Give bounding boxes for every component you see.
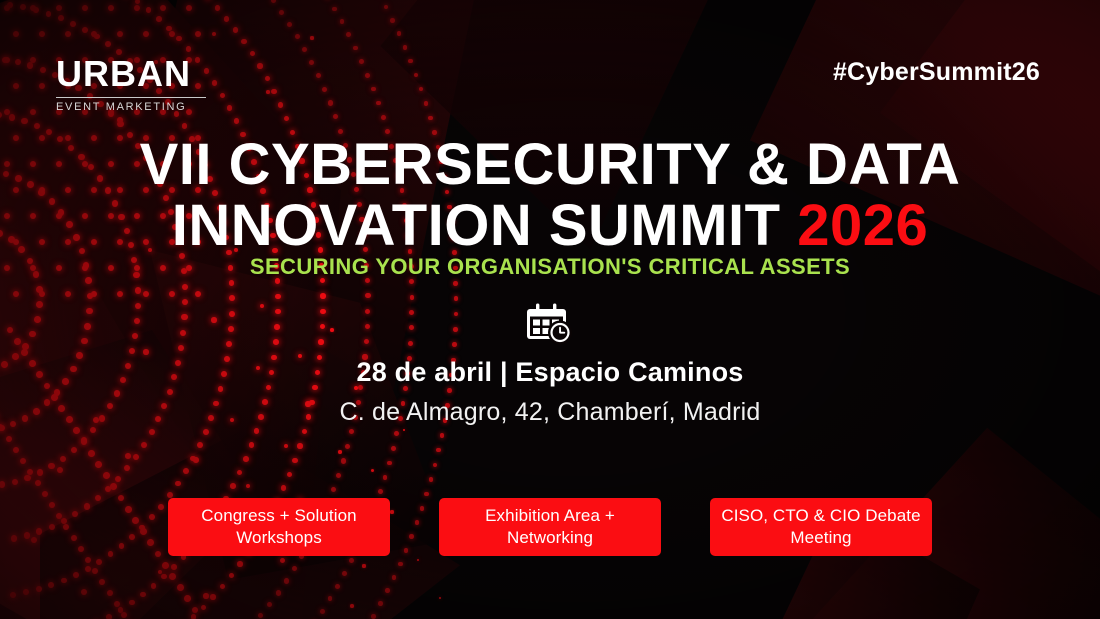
logo-tagline-text: EVENT MARKETING (56, 102, 206, 113)
event-date-venue: 28 de abril | Espacio Caminos (0, 357, 1100, 388)
title-line-2: INNOVATION SUMMIT 2026 (0, 195, 1100, 256)
logo-brand-text: URBAN (56, 56, 206, 92)
logo-divider (56, 97, 206, 98)
title-block: VII CYBERSECURITY & DATA INNOVATION SUMM… (0, 134, 1100, 257)
event-hashtag: #CyberSummit26 (833, 58, 1040, 87)
title-line-1: VII CYBERSECURITY & DATA (0, 134, 1100, 195)
program-pill-group: Congress + Solution Workshops Exhibition… (168, 498, 932, 556)
event-address: C. de Almagro, 42, Chamberí, Madrid (0, 398, 1100, 427)
calendar-clock-icon (527, 303, 573, 345)
pill-ciso-cto-cio-debate[interactable]: CISO, CTO & CIO Debate Meeting (710, 498, 932, 556)
title-year: 2026 (797, 193, 928, 258)
title-line-2-main: INNOVATION SUMMIT (172, 193, 781, 258)
event-subtitle: SECURING YOUR ORGANISATION'S CRITICAL AS… (0, 254, 1100, 280)
pill-congress-workshops[interactable]: Congress + Solution Workshops (168, 498, 390, 556)
event-banner: URBAN EVENT MARKETING #CyberSummit26 VII… (0, 0, 1100, 619)
pill-exhibition-networking[interactable]: Exhibition Area + Networking (439, 498, 661, 556)
urban-logo[interactable]: URBAN EVENT MARKETING (56, 56, 206, 113)
